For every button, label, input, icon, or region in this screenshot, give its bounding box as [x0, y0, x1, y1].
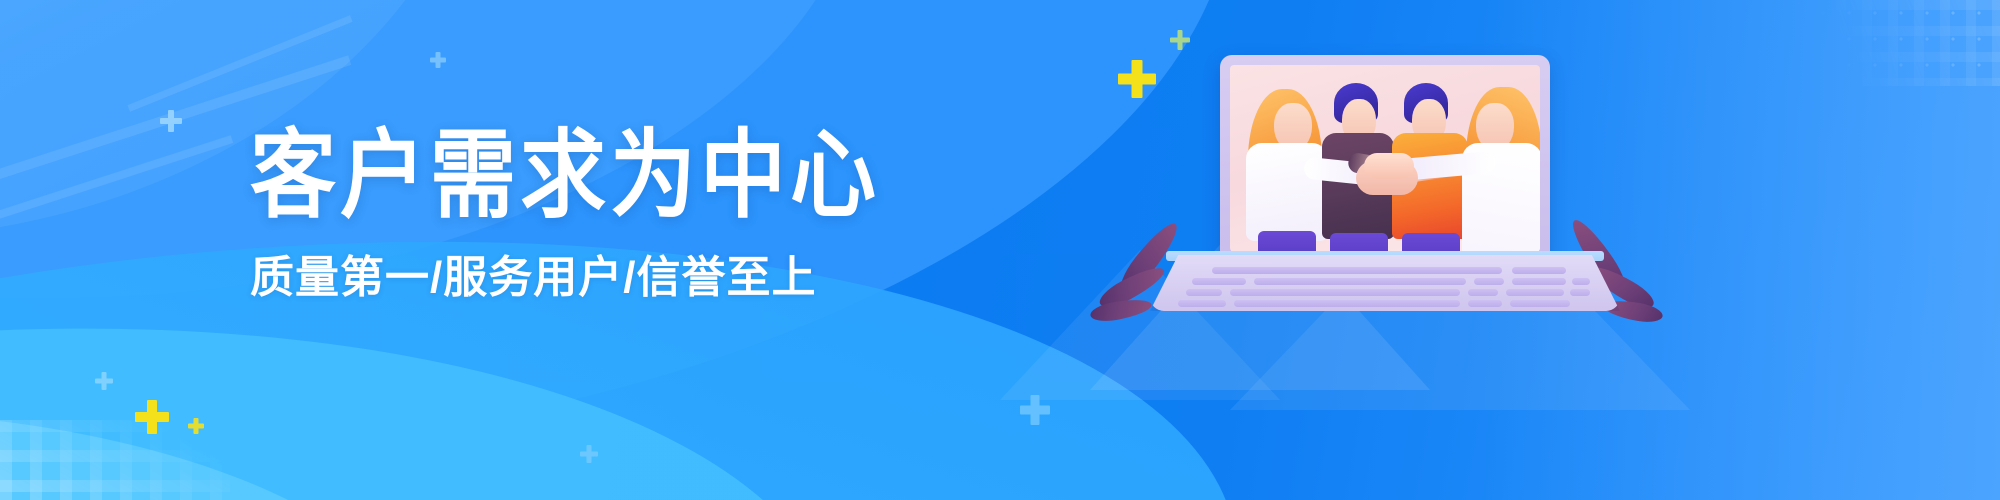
legs-man-right [1402, 233, 1460, 252]
key [1178, 300, 1226, 307]
cyan-plus-icon-1 [160, 110, 182, 132]
key [1254, 278, 1466, 285]
key [1512, 278, 1566, 285]
key [1512, 267, 1566, 274]
cyan-plus-icon-5 [430, 52, 446, 68]
key [1192, 278, 1246, 285]
key [1234, 300, 1460, 307]
banner-text-block: 客户需求为中心 质量第一/服务用户/信誉至上 [250, 128, 870, 300]
key [1570, 289, 1590, 296]
key [1510, 300, 1570, 307]
key [1506, 289, 1564, 296]
key [1468, 289, 1498, 296]
promo-banner: 客户需求为中心 质量第一/服务用户/信誉至上 [0, 0, 2000, 500]
top-right-square-grid [1810, 0, 2000, 86]
yellow-plus-icon-bottom [135, 400, 169, 434]
key [1230, 289, 1460, 296]
legs-man-left [1330, 233, 1388, 252]
yellow-plus-icon-small [1170, 30, 1190, 50]
key [1468, 300, 1502, 307]
key [1474, 278, 1504, 285]
laptop-lid [1220, 55, 1550, 260]
yellow-plus-icon-tiny [188, 418, 204, 434]
cyan-plus-icon-3 [1020, 395, 1050, 425]
stacked-hands-top [1364, 153, 1414, 179]
key [1572, 278, 1590, 285]
cyan-plus-icon-4 [580, 445, 598, 463]
laptop-keyboard [1172, 265, 1598, 307]
team-illustration [1120, 55, 1680, 355]
cyan-plus-icon-2 [95, 372, 113, 390]
key [1186, 289, 1222, 296]
legs-woman-left [1258, 231, 1316, 252]
banner-headline: 客户需求为中心 [250, 128, 870, 224]
laptop-screen [1230, 65, 1540, 252]
key [1212, 267, 1502, 274]
